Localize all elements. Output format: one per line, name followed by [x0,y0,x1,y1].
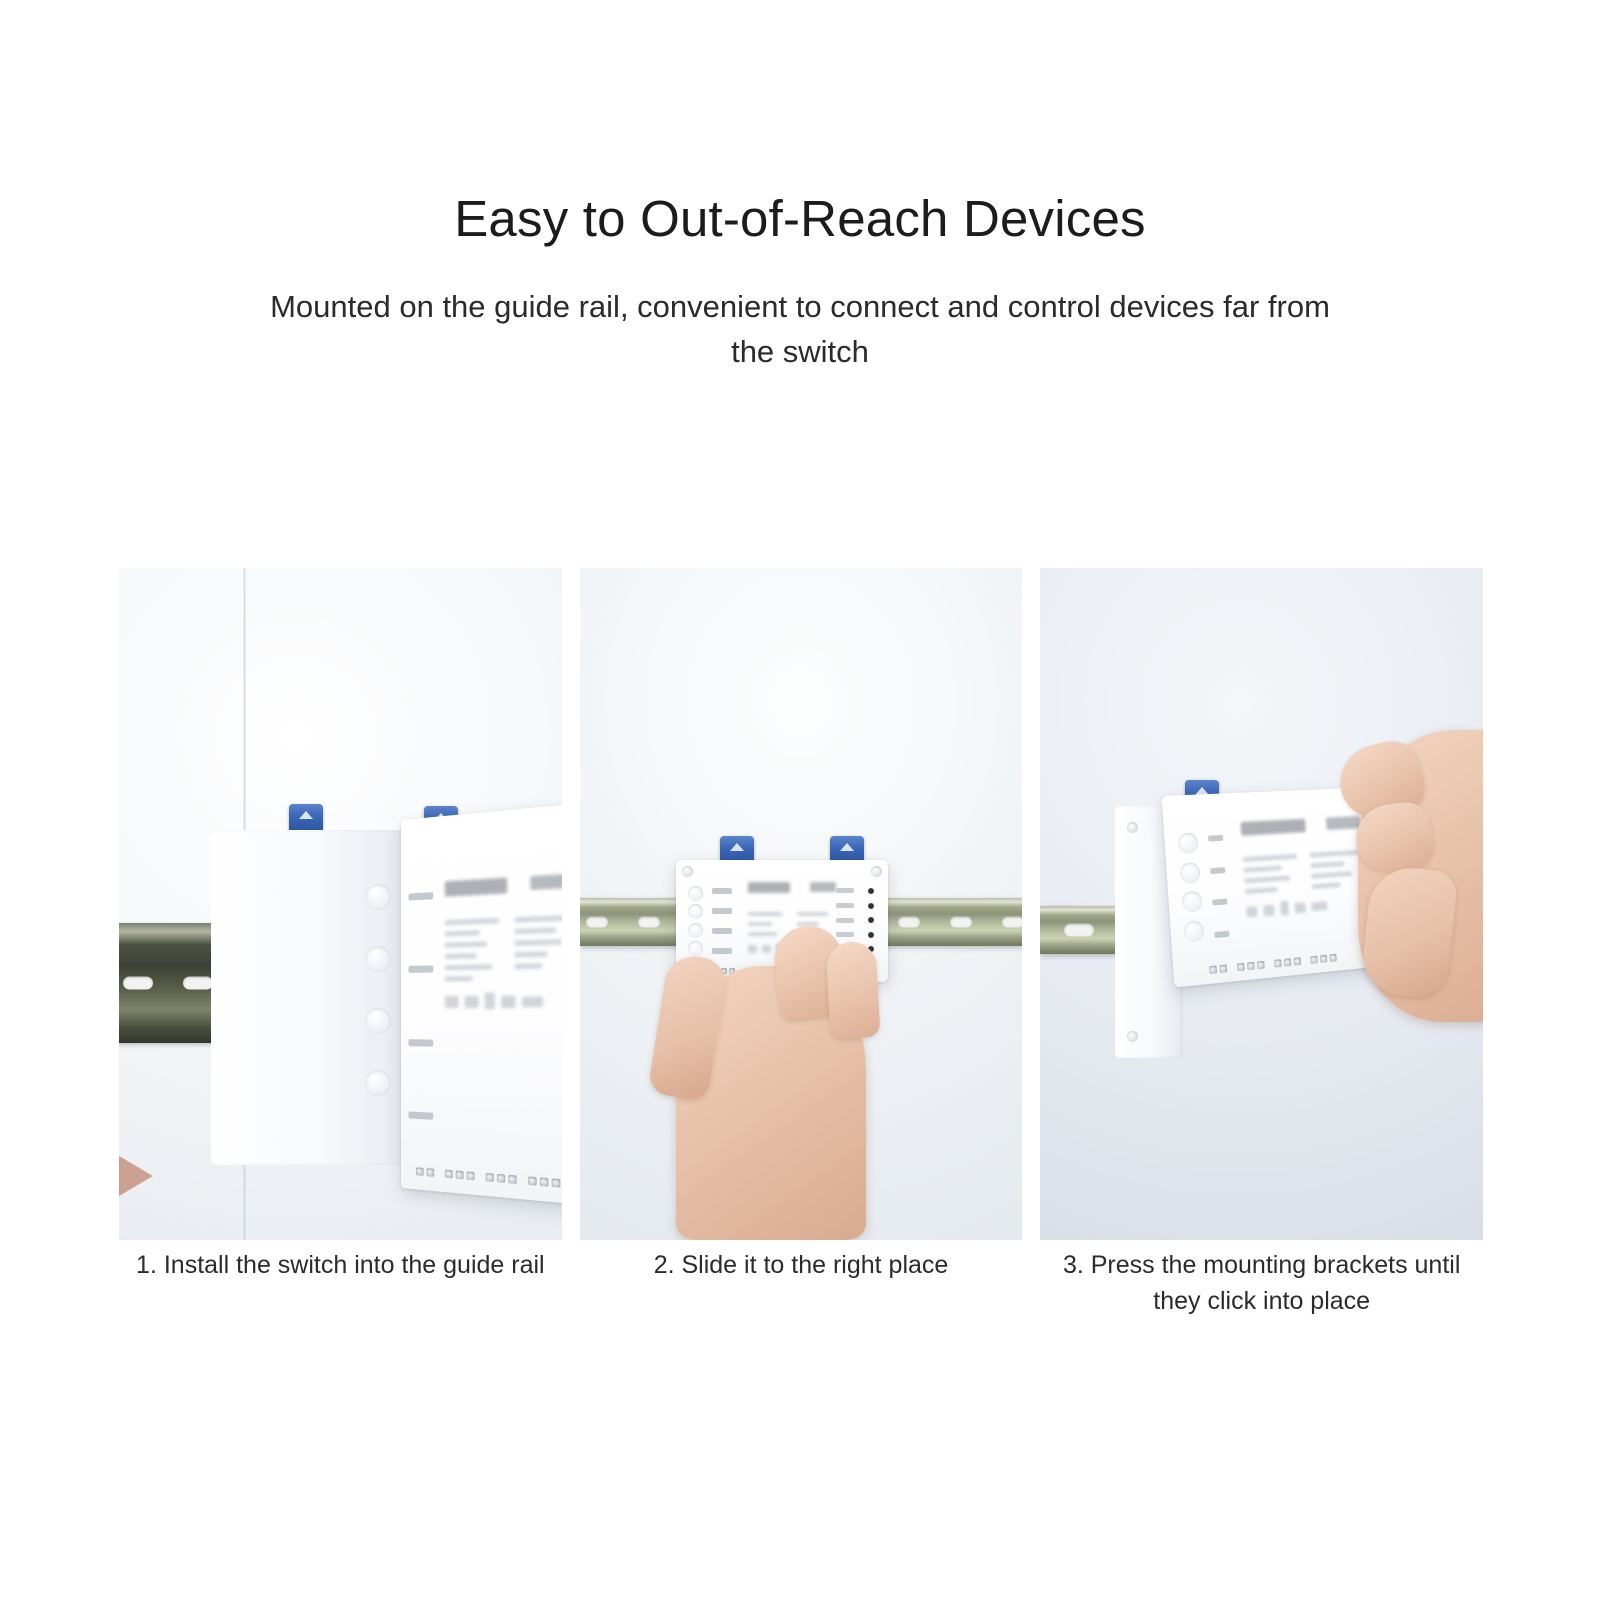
button-label-column [408,892,433,1120]
button-column[interactable] [1178,832,1205,942]
device-button[interactable] [688,923,703,938]
caption-row: 1. Install the switch into the guide rai… [119,1248,1483,1319]
step-image-3 [1040,568,1483,1240]
device-printed-label [445,873,562,1009]
device-button[interactable] [1178,832,1199,854]
model-mark [1326,816,1361,830]
device-button[interactable] [1182,891,1203,913]
photo-slide-into-place [580,568,1023,1240]
terminal-group[interactable] [1237,961,1265,971]
terminal-group[interactable] [486,1173,517,1184]
led-indicator [868,932,874,938]
led-indicator [868,888,874,894]
device-button[interactable] [688,904,703,919]
step-caption-3: 3. Press the mounting brackets until the… [1040,1248,1483,1319]
step-image-row [119,568,1483,1240]
device-button[interactable] [688,886,703,901]
model-mark [530,874,561,890]
terminal-block-row[interactable] [1209,953,1346,974]
step-image-2 [580,568,1023,1240]
terminal-group[interactable] [445,1170,475,1181]
screw-recess [1127,822,1138,833]
header: Easy to Out-of-Reach Devices Mounted on … [0,190,1600,375]
rail-slot [183,977,213,990]
device-button[interactable] [1180,862,1201,884]
device-button[interactable] [688,941,703,956]
button-label [408,892,433,900]
device-side-wall [211,830,411,1165]
brand-mark [445,878,507,897]
screw-recess [682,866,693,877]
photo-install-into-rail [119,568,562,1240]
product-infographic: Easy to Out-of-Reach Devices Mounted on … [0,0,1600,1600]
button-label-column [712,888,732,954]
button-label [408,1039,433,1047]
model-mark [810,882,835,892]
button-label [408,966,433,973]
mounting-bracket[interactable] [830,836,864,863]
step-caption-2: 2. Slide it to the right place [580,1248,1023,1319]
terminal-group[interactable] [1311,954,1337,964]
terminal-group[interactable] [416,1167,434,1177]
button-label [408,1111,433,1119]
terminal-group[interactable] [1274,957,1301,967]
led-indicator [868,903,874,909]
device-printed-label [1241,816,1370,919]
cable-knockout [365,884,391,910]
step-image-1 [119,568,562,1240]
button-label-column [1208,835,1230,938]
mounting-bracket[interactable] [289,804,323,831]
terminal-group[interactable] [528,1176,560,1187]
brand-mark [748,882,791,893]
mounting-bracket[interactable] [720,836,754,863]
step-caption-1: 1. Install the switch into the guide rai… [119,1248,562,1319]
screw-recess [871,866,882,877]
photo-press-brackets [1040,568,1483,1240]
page-title: Easy to Out-of-Reach Devices [0,190,1600,249]
led-indicator-column [868,888,874,952]
page-subtitle: Mounted on the guide rail, convenient to… [270,285,1330,375]
led-indicator [868,917,874,923]
fingertip [119,1156,153,1196]
terminal-block-row[interactable] [416,1167,562,1188]
cable-knockout [365,946,391,972]
screw-recess [1127,1031,1138,1042]
cable-knockout [365,1008,391,1034]
device-button[interactable] [1184,920,1205,942]
button-column[interactable] [688,886,703,956]
terminal-group[interactable] [1209,964,1227,974]
device-face [401,799,562,1209]
smart-switch-device[interactable] [401,799,562,1209]
brand-mark [1241,819,1306,836]
middle-finger [825,941,880,1039]
cable-knockout [365,1070,391,1096]
rail-slot [123,977,153,990]
